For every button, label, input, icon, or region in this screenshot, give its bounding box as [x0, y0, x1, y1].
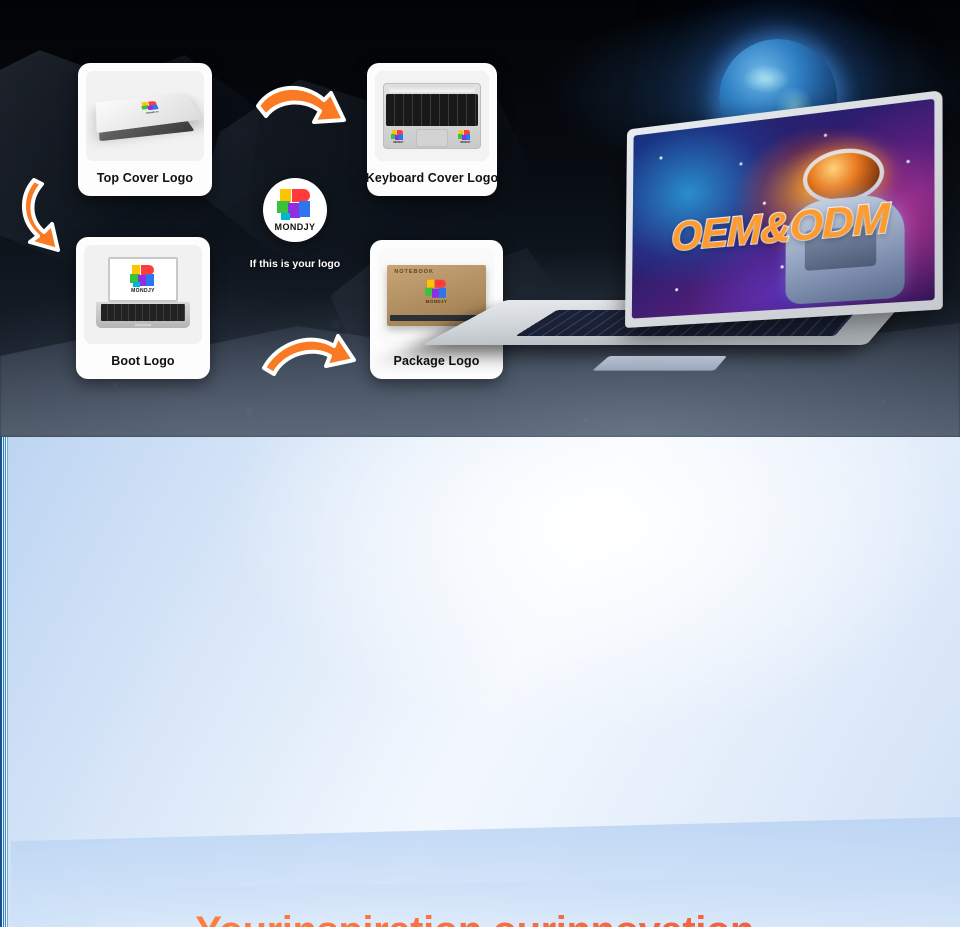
left-edge-stripes — [0, 437, 11, 927]
hero-laptop-image: OEM&ODM — [505, 128, 925, 398]
hero-banner: MONDJY Top Cover Logo — [0, 0, 960, 437]
arrow-left-down — [18, 176, 86, 254]
spec-card-label: Boot Logo — [111, 344, 174, 380]
mondjy-colorblocks-icon — [130, 265, 156, 287]
spec-card-top-cover-logo[interactable]: MONDJY Top Cover Logo — [78, 63, 212, 196]
features-section: Yourinspiration,ourinnovation. -End-To-E… — [0, 437, 960, 927]
brand-logo-badge: MONDJY — [263, 178, 327, 242]
top-cover-thumbnail: MONDJY — [86, 71, 204, 161]
mondjy-colorblocks-icon — [391, 130, 404, 141]
spec-card-boot-logo[interactable]: MONDJY Boot Logo — [76, 237, 210, 379]
mondjy-colorblocks-icon — [425, 280, 447, 299]
spec-card-label: Top Cover Logo — [97, 161, 193, 197]
carton-brand-text: NOTEBOOK — [394, 269, 434, 275]
brand-badge-caption: If this is your logo — [241, 258, 349, 270]
keyboard-cover-thumbnail: MONDJY MONDJY — [375, 71, 489, 161]
spec-card-package-logo[interactable]: NOTEBOOK MONDJY Package Logo — [370, 240, 503, 379]
arrow-top-right — [252, 78, 357, 140]
mondjy-colorblocks-icon — [458, 130, 471, 141]
spec-card-label: Package Logo — [394, 344, 480, 380]
spec-card-keyboard-cover-logo[interactable]: MONDJY MONDJY Keyboard Cover Logo — [367, 63, 497, 196]
mondjy-colorblocks-icon — [277, 189, 313, 221]
spec-card-label: Keyboard Cover Logo — [366, 161, 498, 197]
arrow-bottom-right — [258, 326, 362, 384]
boot-logo-thumbnail: MONDJY — [84, 245, 202, 344]
brand-name: MONDJY — [275, 223, 316, 232]
page-title: Yourinspiration,ourinnovation. — [0, 911, 960, 927]
